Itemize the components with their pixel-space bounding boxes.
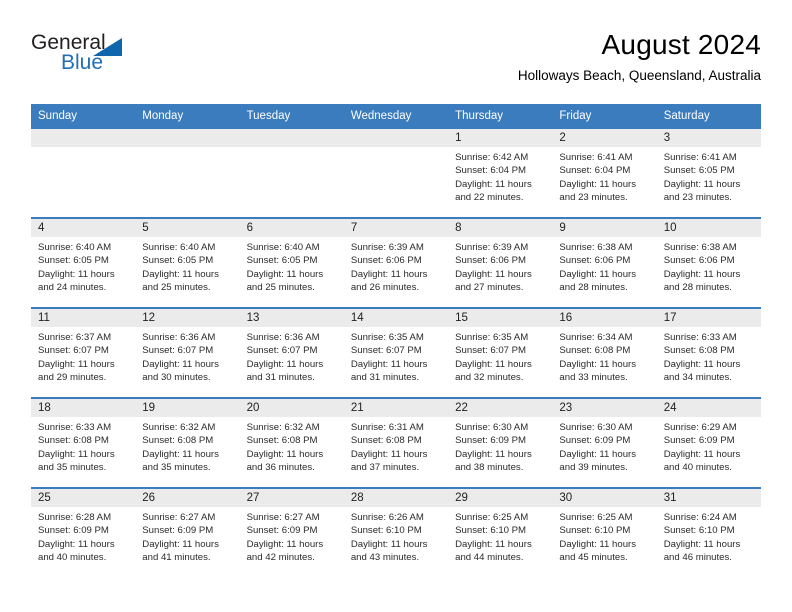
sunrise-text: Sunrise: 6:38 AM <box>664 241 755 254</box>
sunrise-text: Sunrise: 6:33 AM <box>38 421 129 434</box>
daylight-text-line1: Daylight: 11 hours <box>455 178 546 191</box>
day-number: 6 <box>240 219 344 237</box>
day-number: 28 <box>344 489 448 507</box>
sunset-text: Sunset: 6:07 PM <box>38 344 129 357</box>
sunrise-text: Sunrise: 6:30 AM <box>559 421 650 434</box>
day-cell[interactable]: 21Sunrise: 6:31 AMSunset: 6:08 PMDayligh… <box>344 399 448 487</box>
daylight-text-line1: Daylight: 11 hours <box>664 538 755 551</box>
day-details: Sunrise: 6:41 AMSunset: 6:05 PMDaylight:… <box>657 147 761 205</box>
daylight-text-line2: and 36 minutes. <box>247 461 338 474</box>
daylight-text-line2: and 41 minutes. <box>142 551 233 564</box>
daylight-text-line1: Daylight: 11 hours <box>664 448 755 461</box>
day-number: 18 <box>31 399 135 417</box>
day-number: 9 <box>552 219 656 237</box>
calendar-week-row: 1Sunrise: 6:42 AMSunset: 6:04 PMDaylight… <box>31 129 761 218</box>
daylight-text-line1: Daylight: 11 hours <box>351 358 442 371</box>
weekday-header-tuesday: Tuesday <box>240 104 344 129</box>
brand-logo[interactable]: General Blue <box>31 32 231 88</box>
daylight-text-line2: and 34 minutes. <box>664 371 755 384</box>
sunset-text: Sunset: 6:08 PM <box>38 434 129 447</box>
weekday-header-thursday: Thursday <box>448 104 552 129</box>
calendar-cell-empty <box>344 129 448 218</box>
daylight-text-line1: Daylight: 11 hours <box>455 448 546 461</box>
weekday-header-sunday: Sunday <box>31 104 135 129</box>
day-cell <box>344 129 448 217</box>
day-cell[interactable]: 3Sunrise: 6:41 AMSunset: 6:05 PMDaylight… <box>657 129 761 217</box>
day-number <box>31 129 135 147</box>
day-number: 20 <box>240 399 344 417</box>
day-details: Sunrise: 6:35 AMSunset: 6:07 PMDaylight:… <box>448 327 552 385</box>
daylight-text-line2: and 32 minutes. <box>455 371 546 384</box>
day-details: Sunrise: 6:35 AMSunset: 6:07 PMDaylight:… <box>344 327 448 385</box>
sunset-text: Sunset: 6:10 PM <box>664 524 755 537</box>
sunset-text: Sunset: 6:05 PM <box>142 254 233 267</box>
calendar-cell-day[interactable]: 20Sunrise: 6:32 AMSunset: 6:08 PMDayligh… <box>240 398 344 488</box>
daylight-text-line1: Daylight: 11 hours <box>455 268 546 281</box>
sunset-text: Sunset: 6:04 PM <box>559 164 650 177</box>
day-details: Sunrise: 6:40 AMSunset: 6:05 PMDaylight:… <box>135 237 239 295</box>
daylight-text-line2: and 39 minutes. <box>559 461 650 474</box>
calendar-cell-empty <box>135 129 239 218</box>
day-details: Sunrise: 6:27 AMSunset: 6:09 PMDaylight:… <box>240 507 344 565</box>
calendar-cell-day[interactable]: 2Sunrise: 6:41 AMSunset: 6:04 PMDaylight… <box>552 129 656 218</box>
weekday-header-friday: Friday <box>552 104 656 129</box>
day-cell[interactable]: 30Sunrise: 6:25 AMSunset: 6:10 PMDayligh… <box>552 489 656 577</box>
calendar-cell-day[interactable]: 11Sunrise: 6:37 AMSunset: 6:07 PMDayligh… <box>31 308 135 398</box>
daylight-text-line2: and 33 minutes. <box>559 371 650 384</box>
sunrise-text: Sunrise: 6:39 AM <box>351 241 442 254</box>
day-number: 15 <box>448 309 552 327</box>
daylight-text-line1: Daylight: 11 hours <box>38 268 129 281</box>
sunset-text: Sunset: 6:07 PM <box>455 344 546 357</box>
day-cell[interactable]: 10Sunrise: 6:38 AMSunset: 6:06 PMDayligh… <box>657 219 761 307</box>
daylight-text-line1: Daylight: 11 hours <box>142 268 233 281</box>
calendar-cell-day[interactable]: 19Sunrise: 6:32 AMSunset: 6:08 PMDayligh… <box>135 398 239 488</box>
day-cell[interactable]: 8Sunrise: 6:39 AMSunset: 6:06 PMDaylight… <box>448 219 552 307</box>
day-details: Sunrise: 6:33 AMSunset: 6:08 PMDaylight:… <box>657 327 761 385</box>
sunrise-text: Sunrise: 6:42 AM <box>455 151 546 164</box>
day-cell[interactable]: 14Sunrise: 6:35 AMSunset: 6:07 PMDayligh… <box>344 309 448 397</box>
sunrise-text: Sunrise: 6:37 AM <box>38 331 129 344</box>
sunset-text: Sunset: 6:08 PM <box>247 434 338 447</box>
day-details: Sunrise: 6:40 AMSunset: 6:05 PMDaylight:… <box>240 237 344 295</box>
day-number: 1 <box>448 129 552 147</box>
daylight-text-line1: Daylight: 11 hours <box>559 178 650 191</box>
day-number: 7 <box>344 219 448 237</box>
sunset-text: Sunset: 6:05 PM <box>247 254 338 267</box>
daylight-text-line1: Daylight: 11 hours <box>559 448 650 461</box>
daylight-text-line1: Daylight: 11 hours <box>142 538 233 551</box>
sunset-text: Sunset: 6:06 PM <box>455 254 546 267</box>
sunset-text: Sunset: 6:10 PM <box>559 524 650 537</box>
day-number: 19 <box>135 399 239 417</box>
sunset-text: Sunset: 6:10 PM <box>455 524 546 537</box>
day-details: Sunrise: 6:27 AMSunset: 6:09 PMDaylight:… <box>135 507 239 565</box>
day-number: 21 <box>344 399 448 417</box>
calendar-cell-day[interactable]: 17Sunrise: 6:33 AMSunset: 6:08 PMDayligh… <box>657 308 761 398</box>
daylight-text-line2: and 31 minutes. <box>351 371 442 384</box>
day-cell[interactable]: 23Sunrise: 6:30 AMSunset: 6:09 PMDayligh… <box>552 399 656 487</box>
sunrise-text: Sunrise: 6:29 AM <box>664 421 755 434</box>
sunset-text: Sunset: 6:09 PM <box>247 524 338 537</box>
daylight-text-line2: and 29 minutes. <box>38 371 129 384</box>
day-cell[interactable]: 20Sunrise: 6:32 AMSunset: 6:08 PMDayligh… <box>240 399 344 487</box>
sunrise-text: Sunrise: 6:35 AM <box>351 331 442 344</box>
sunrise-text: Sunrise: 6:25 AM <box>455 511 546 524</box>
page-title: August 2024 <box>518 28 761 62</box>
calendar-cell-day[interactable]: 31Sunrise: 6:24 AMSunset: 6:10 PMDayligh… <box>657 488 761 577</box>
daylight-text-line1: Daylight: 11 hours <box>351 268 442 281</box>
day-cell[interactable]: 22Sunrise: 6:30 AMSunset: 6:09 PMDayligh… <box>448 399 552 487</box>
day-cell[interactable]: 12Sunrise: 6:36 AMSunset: 6:07 PMDayligh… <box>135 309 239 397</box>
day-number <box>135 129 239 147</box>
day-cell[interactable]: 16Sunrise: 6:34 AMSunset: 6:08 PMDayligh… <box>552 309 656 397</box>
calendar-header-row: SundayMondayTuesdayWednesdayThursdayFrid… <box>31 104 761 129</box>
daylight-text-line2: and 25 minutes. <box>142 281 233 294</box>
day-details: Sunrise: 6:36 AMSunset: 6:07 PMDaylight:… <box>135 327 239 385</box>
day-number: 22 <box>448 399 552 417</box>
day-details: Sunrise: 6:30 AMSunset: 6:09 PMDaylight:… <box>448 417 552 475</box>
day-cell[interactable]: 9Sunrise: 6:38 AMSunset: 6:06 PMDaylight… <box>552 219 656 307</box>
day-cell[interactable]: 2Sunrise: 6:41 AMSunset: 6:04 PMDaylight… <box>552 129 656 217</box>
weekday-header-monday: Monday <box>135 104 239 129</box>
day-details: Sunrise: 6:41 AMSunset: 6:04 PMDaylight:… <box>552 147 656 205</box>
day-details: Sunrise: 6:33 AMSunset: 6:08 PMDaylight:… <box>31 417 135 475</box>
day-cell <box>135 129 239 217</box>
day-details: Sunrise: 6:26 AMSunset: 6:10 PMDaylight:… <box>344 507 448 565</box>
day-cell[interactable]: 6Sunrise: 6:40 AMSunset: 6:05 PMDaylight… <box>240 219 344 307</box>
sunrise-text: Sunrise: 6:27 AM <box>142 511 233 524</box>
day-details: Sunrise: 6:31 AMSunset: 6:08 PMDaylight:… <box>344 417 448 475</box>
day-cell[interactable]: 15Sunrise: 6:35 AMSunset: 6:07 PMDayligh… <box>448 309 552 397</box>
daylight-text-line1: Daylight: 11 hours <box>142 358 233 371</box>
day-cell[interactable]: 13Sunrise: 6:36 AMSunset: 6:07 PMDayligh… <box>240 309 344 397</box>
day-details: Sunrise: 6:39 AMSunset: 6:06 PMDaylight:… <box>344 237 448 295</box>
calendar-page: General Blue August 2024 Holloways Beach… <box>0 0 792 612</box>
calendar-cell-day[interactable]: 1Sunrise: 6:42 AMSunset: 6:04 PMDaylight… <box>448 129 552 218</box>
calendar-cell-day[interactable]: 3Sunrise: 6:41 AMSunset: 6:05 PMDaylight… <box>657 129 761 218</box>
sunrise-text: Sunrise: 6:36 AM <box>142 331 233 344</box>
sunrise-text: Sunrise: 6:26 AM <box>351 511 442 524</box>
daylight-text-line2: and 28 minutes. <box>559 281 650 294</box>
calendar-cell-day[interactable]: 29Sunrise: 6:25 AMSunset: 6:10 PMDayligh… <box>448 488 552 577</box>
daylight-text-line1: Daylight: 11 hours <box>559 268 650 281</box>
calendar-cell-empty <box>31 129 135 218</box>
day-number: 8 <box>448 219 552 237</box>
daylight-text-line1: Daylight: 11 hours <box>38 358 129 371</box>
daylight-text-line1: Daylight: 11 hours <box>664 358 755 371</box>
day-cell[interactable]: 29Sunrise: 6:25 AMSunset: 6:10 PMDayligh… <box>448 489 552 577</box>
day-number: 29 <box>448 489 552 507</box>
calendar-cell-day[interactable]: 8Sunrise: 6:39 AMSunset: 6:06 PMDaylight… <box>448 218 552 308</box>
day-number: 5 <box>135 219 239 237</box>
daylight-text-line2: and 38 minutes. <box>455 461 546 474</box>
sunrise-text: Sunrise: 6:39 AM <box>455 241 546 254</box>
sunset-text: Sunset: 6:08 PM <box>142 434 233 447</box>
sunset-text: Sunset: 6:09 PM <box>559 434 650 447</box>
day-details: Sunrise: 6:40 AMSunset: 6:05 PMDaylight:… <box>31 237 135 295</box>
sunrise-text: Sunrise: 6:25 AM <box>559 511 650 524</box>
calendar-cell-day[interactable]: 24Sunrise: 6:29 AMSunset: 6:09 PMDayligh… <box>657 398 761 488</box>
sunrise-text: Sunrise: 6:30 AM <box>455 421 546 434</box>
sunset-text: Sunset: 6:07 PM <box>247 344 338 357</box>
sunset-text: Sunset: 6:06 PM <box>559 254 650 267</box>
calendar-cell-empty <box>240 129 344 218</box>
day-details: Sunrise: 6:25 AMSunset: 6:10 PMDaylight:… <box>448 507 552 565</box>
sunset-text: Sunset: 6:09 PM <box>38 524 129 537</box>
calendar-body: 1Sunrise: 6:42 AMSunset: 6:04 PMDaylight… <box>31 129 761 577</box>
sunset-text: Sunset: 6:09 PM <box>664 434 755 447</box>
day-number: 4 <box>31 219 135 237</box>
sunset-text: Sunset: 6:09 PM <box>455 434 546 447</box>
daylight-text-line1: Daylight: 11 hours <box>351 538 442 551</box>
sunset-text: Sunset: 6:05 PM <box>38 254 129 267</box>
day-details: Sunrise: 6:30 AMSunset: 6:09 PMDaylight:… <box>552 417 656 475</box>
sunset-text: Sunset: 6:08 PM <box>559 344 650 357</box>
daylight-text-line2: and 25 minutes. <box>247 281 338 294</box>
calendar-cell-day[interactable]: 30Sunrise: 6:25 AMSunset: 6:10 PMDayligh… <box>552 488 656 577</box>
day-details: Sunrise: 6:24 AMSunset: 6:10 PMDaylight:… <box>657 507 761 565</box>
day-cell[interactable]: 25Sunrise: 6:28 AMSunset: 6:09 PMDayligh… <box>31 489 135 577</box>
daylight-text-line2: and 37 minutes. <box>351 461 442 474</box>
day-number: 25 <box>31 489 135 507</box>
day-details: Sunrise: 6:29 AMSunset: 6:09 PMDaylight:… <box>657 417 761 475</box>
day-details: Sunrise: 6:34 AMSunset: 6:08 PMDaylight:… <box>552 327 656 385</box>
sunrise-text: Sunrise: 6:41 AM <box>559 151 650 164</box>
day-cell <box>240 129 344 217</box>
day-details: Sunrise: 6:28 AMSunset: 6:09 PMDaylight:… <box>31 507 135 565</box>
daylight-text-line1: Daylight: 11 hours <box>455 358 546 371</box>
daylight-text-line1: Daylight: 11 hours <box>247 358 338 371</box>
weekday-header-wednesday: Wednesday <box>344 104 448 129</box>
day-number <box>240 129 344 147</box>
daylight-text-line1: Daylight: 11 hours <box>455 538 546 551</box>
calendar-week-row: 18Sunrise: 6:33 AMSunset: 6:08 PMDayligh… <box>31 398 761 488</box>
brand-word-blue: Blue <box>61 52 103 74</box>
daylight-text-line2: and 40 minutes. <box>38 551 129 564</box>
sunset-text: Sunset: 6:08 PM <box>664 344 755 357</box>
day-number: 31 <box>657 489 761 507</box>
day-details: Sunrise: 6:32 AMSunset: 6:08 PMDaylight:… <box>240 417 344 475</box>
daylight-text-line1: Daylight: 11 hours <box>38 538 129 551</box>
day-number: 13 <box>240 309 344 327</box>
day-cell[interactable]: 1Sunrise: 6:42 AMSunset: 6:04 PMDaylight… <box>448 129 552 217</box>
day-cell[interactable]: 4Sunrise: 6:40 AMSunset: 6:05 PMDaylight… <box>31 219 135 307</box>
day-cell[interactable]: 11Sunrise: 6:37 AMSunset: 6:07 PMDayligh… <box>31 309 135 397</box>
calendar-cell-day[interactable]: 6Sunrise: 6:40 AMSunset: 6:05 PMDaylight… <box>240 218 344 308</box>
sunrise-text: Sunrise: 6:33 AM <box>664 331 755 344</box>
daylight-text-line2: and 31 minutes. <box>247 371 338 384</box>
calendar-cell-day[interactable]: 25Sunrise: 6:28 AMSunset: 6:09 PMDayligh… <box>31 488 135 577</box>
day-details: Sunrise: 6:32 AMSunset: 6:08 PMDaylight:… <box>135 417 239 475</box>
day-number: 12 <box>135 309 239 327</box>
day-number: 30 <box>552 489 656 507</box>
sunrise-text: Sunrise: 6:31 AM <box>351 421 442 434</box>
day-number: 11 <box>31 309 135 327</box>
daylight-text-line1: Daylight: 11 hours <box>664 268 755 281</box>
calendar-cell-day[interactable]: 26Sunrise: 6:27 AMSunset: 6:09 PMDayligh… <box>135 488 239 577</box>
day-cell[interactable]: 7Sunrise: 6:39 AMSunset: 6:06 PMDaylight… <box>344 219 448 307</box>
daylight-text-line2: and 22 minutes. <box>455 191 546 204</box>
day-cell <box>31 129 135 217</box>
day-cell[interactable]: 26Sunrise: 6:27 AMSunset: 6:09 PMDayligh… <box>135 489 239 577</box>
daylight-text-line1: Daylight: 11 hours <box>247 448 338 461</box>
day-details: Sunrise: 6:37 AMSunset: 6:07 PMDaylight:… <box>31 327 135 385</box>
sunrise-text: Sunrise: 6:40 AM <box>38 241 129 254</box>
calendar-cell-day[interactable]: 10Sunrise: 6:38 AMSunset: 6:06 PMDayligh… <box>657 218 761 308</box>
calendar-cell-day[interactable]: 7Sunrise: 6:39 AMSunset: 6:06 PMDaylight… <box>344 218 448 308</box>
day-details: Sunrise: 6:38 AMSunset: 6:06 PMDaylight:… <box>552 237 656 295</box>
daylight-text-line1: Daylight: 11 hours <box>559 538 650 551</box>
sunrise-text: Sunrise: 6:35 AM <box>455 331 546 344</box>
calendar-cell-day[interactable]: 13Sunrise: 6:36 AMSunset: 6:07 PMDayligh… <box>240 308 344 398</box>
daylight-text-line2: and 24 minutes. <box>38 281 129 294</box>
daylight-text-line2: and 23 minutes. <box>664 191 755 204</box>
day-cell[interactable]: 24Sunrise: 6:29 AMSunset: 6:09 PMDayligh… <box>657 399 761 487</box>
calendar-cell-day[interactable]: 21Sunrise: 6:31 AMSunset: 6:08 PMDayligh… <box>344 398 448 488</box>
calendar-cell-day[interactable]: 16Sunrise: 6:34 AMSunset: 6:08 PMDayligh… <box>552 308 656 398</box>
sunset-text: Sunset: 6:04 PM <box>455 164 546 177</box>
sunset-text: Sunset: 6:07 PM <box>351 344 442 357</box>
day-cell[interactable]: 17Sunrise: 6:33 AMSunset: 6:08 PMDayligh… <box>657 309 761 397</box>
title-block: August 2024 Holloways Beach, Queensland,… <box>518 28 761 86</box>
day-details: Sunrise: 6:25 AMSunset: 6:10 PMDaylight:… <box>552 507 656 565</box>
day-cell[interactable]: 5Sunrise: 6:40 AMSunset: 6:05 PMDaylight… <box>135 219 239 307</box>
calendar-cell-day[interactable]: 4Sunrise: 6:40 AMSunset: 6:05 PMDaylight… <box>31 218 135 308</box>
daylight-text-line2: and 35 minutes. <box>142 461 233 474</box>
day-number: 26 <box>135 489 239 507</box>
daylight-text-line1: Daylight: 11 hours <box>142 448 233 461</box>
daylight-text-line2: and 26 minutes. <box>351 281 442 294</box>
sunrise-text: Sunrise: 6:24 AM <box>664 511 755 524</box>
calendar-cell-day[interactable]: 23Sunrise: 6:30 AMSunset: 6:09 PMDayligh… <box>552 398 656 488</box>
daylight-text-line1: Daylight: 11 hours <box>351 448 442 461</box>
day-number: 23 <box>552 399 656 417</box>
sunrise-text: Sunrise: 6:27 AM <box>247 511 338 524</box>
calendar-cell-day[interactable]: 5Sunrise: 6:40 AMSunset: 6:05 PMDaylight… <box>135 218 239 308</box>
calendar-cell-day[interactable]: 27Sunrise: 6:27 AMSunset: 6:09 PMDayligh… <box>240 488 344 577</box>
daylight-text-line2: and 27 minutes. <box>455 281 546 294</box>
sunrise-text: Sunrise: 6:34 AM <box>559 331 650 344</box>
sunrise-text: Sunrise: 6:36 AM <box>247 331 338 344</box>
sunrise-text: Sunrise: 6:32 AM <box>142 421 233 434</box>
daylight-text-line1: Daylight: 11 hours <box>664 178 755 191</box>
page-subtitle: Holloways Beach, Queensland, Australia <box>518 66 761 86</box>
daylight-text-line2: and 42 minutes. <box>247 551 338 564</box>
daylight-text-line2: and 23 minutes. <box>559 191 650 204</box>
day-number: 14 <box>344 309 448 327</box>
calendar-week-row: 25Sunrise: 6:28 AMSunset: 6:09 PMDayligh… <box>31 488 761 577</box>
daylight-text-line2: and 43 minutes. <box>351 551 442 564</box>
daylight-text-line2: and 30 minutes. <box>142 371 233 384</box>
calendar-cell-day[interactable]: 14Sunrise: 6:35 AMSunset: 6:07 PMDayligh… <box>344 308 448 398</box>
calendar-week-row: 4Sunrise: 6:40 AMSunset: 6:05 PMDaylight… <box>31 218 761 308</box>
day-number: 16 <box>552 309 656 327</box>
sunset-text: Sunset: 6:08 PM <box>351 434 442 447</box>
day-number: 24 <box>657 399 761 417</box>
day-details: Sunrise: 6:39 AMSunset: 6:06 PMDaylight:… <box>448 237 552 295</box>
sunrise-text: Sunrise: 6:40 AM <box>142 241 233 254</box>
sunset-text: Sunset: 6:09 PM <box>142 524 233 537</box>
daylight-text-line2: and 46 minutes. <box>664 551 755 564</box>
calendar-cell-day[interactable]: 18Sunrise: 6:33 AMSunset: 6:08 PMDayligh… <box>31 398 135 488</box>
sunrise-text: Sunrise: 6:38 AM <box>559 241 650 254</box>
daylight-text-line2: and 35 minutes. <box>38 461 129 474</box>
day-cell[interactable]: 28Sunrise: 6:26 AMSunset: 6:10 PMDayligh… <box>344 489 448 577</box>
sunrise-text: Sunrise: 6:41 AM <box>664 151 755 164</box>
day-number <box>344 129 448 147</box>
day-cell[interactable]: 31Sunrise: 6:24 AMSunset: 6:10 PMDayligh… <box>657 489 761 577</box>
day-number: 3 <box>657 129 761 147</box>
daylight-text-line1: Daylight: 11 hours <box>38 448 129 461</box>
day-number: 17 <box>657 309 761 327</box>
calendar-cell-day[interactable]: 28Sunrise: 6:26 AMSunset: 6:10 PMDayligh… <box>344 488 448 577</box>
daylight-text-line2: and 40 minutes. <box>664 461 755 474</box>
sunrise-text: Sunrise: 6:28 AM <box>38 511 129 524</box>
sunrise-text: Sunrise: 6:32 AM <box>247 421 338 434</box>
sunrise-text: Sunrise: 6:40 AM <box>247 241 338 254</box>
day-details: Sunrise: 6:36 AMSunset: 6:07 PMDaylight:… <box>240 327 344 385</box>
day-cell[interactable]: 19Sunrise: 6:32 AMSunset: 6:08 PMDayligh… <box>135 399 239 487</box>
sunset-text: Sunset: 6:06 PM <box>664 254 755 267</box>
sunset-text: Sunset: 6:07 PM <box>142 344 233 357</box>
sunset-text: Sunset: 6:05 PM <box>664 164 755 177</box>
day-details: Sunrise: 6:38 AMSunset: 6:06 PMDaylight:… <box>657 237 761 295</box>
day-cell[interactable]: 18Sunrise: 6:33 AMSunset: 6:08 PMDayligh… <box>31 399 135 487</box>
calendar-cell-day[interactable]: 12Sunrise: 6:36 AMSunset: 6:07 PMDayligh… <box>135 308 239 398</box>
calendar-cell-day[interactable]: 22Sunrise: 6:30 AMSunset: 6:09 PMDayligh… <box>448 398 552 488</box>
calendar-week-row: 11Sunrise: 6:37 AMSunset: 6:07 PMDayligh… <box>31 308 761 398</box>
sunset-text: Sunset: 6:10 PM <box>351 524 442 537</box>
daylight-text-line1: Daylight: 11 hours <box>247 538 338 551</box>
day-cell[interactable]: 27Sunrise: 6:27 AMSunset: 6:09 PMDayligh… <box>240 489 344 577</box>
day-number: 10 <box>657 219 761 237</box>
day-number: 2 <box>552 129 656 147</box>
daylight-text-line2: and 28 minutes. <box>664 281 755 294</box>
page-header: General Blue August 2024 Holloways Beach… <box>31 28 761 90</box>
daylight-text-line1: Daylight: 11 hours <box>247 268 338 281</box>
daylight-text-line2: and 45 minutes. <box>559 551 650 564</box>
calendar-cell-day[interactable]: 9Sunrise: 6:38 AMSunset: 6:06 PMDaylight… <box>552 218 656 308</box>
weekday-header-saturday: Saturday <box>657 104 761 129</box>
daylight-text-line2: and 44 minutes. <box>455 551 546 564</box>
day-number: 27 <box>240 489 344 507</box>
daylight-text-line1: Daylight: 11 hours <box>559 358 650 371</box>
sunrise-sunset-calendar: SundayMondayTuesdayWednesdayThursdayFrid… <box>31 104 761 577</box>
sunset-text: Sunset: 6:06 PM <box>351 254 442 267</box>
calendar-cell-day[interactable]: 15Sunrise: 6:35 AMSunset: 6:07 PMDayligh… <box>448 308 552 398</box>
day-details: Sunrise: 6:42 AMSunset: 6:04 PMDaylight:… <box>448 147 552 205</box>
